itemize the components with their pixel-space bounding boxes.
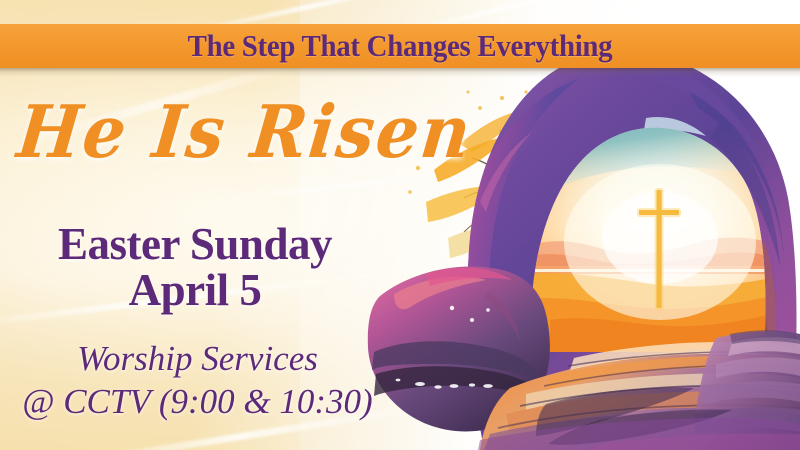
banner-tagline: The Step That Changes Everything <box>28 24 772 68</box>
services-block: Worship Services @ CCTV (9:00 & 10:30) <box>0 338 395 423</box>
event-line-1: Easter Sunday <box>58 219 332 269</box>
text-column: He Is Risen Easter Sunday April 5 Worshi… <box>0 80 420 450</box>
banner-shadow <box>0 68 800 77</box>
script-headline: He Is Risen <box>14 95 482 167</box>
event-headline: Easter Sunday April 5 <box>0 222 390 314</box>
services-line-2: @ CCTV (9:00 & 10:30) <box>0 381 395 424</box>
event-line-2: April 5 <box>0 268 390 314</box>
services-line-1: Worship Services <box>77 339 318 378</box>
easter-service-poster: The Step That Changes Everything He Is R… <box>0 0 800 450</box>
